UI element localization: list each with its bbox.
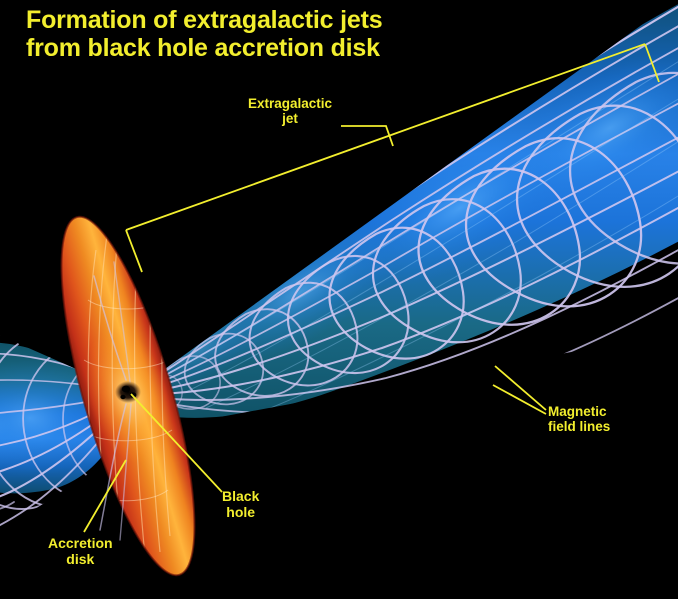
label-extragalactic-jet: Extragalactic jet: [248, 96, 332, 126]
title-line-2: from black hole accretion disk: [26, 34, 380, 62]
label-accretion-disk: Accretion disk: [48, 536, 113, 567]
title-line-1: Formation of extragalactic jets: [26, 6, 382, 34]
illustration-svg: [0, 0, 678, 599]
page-title: Formation of extragalactic jetsfrom blac…: [26, 6, 382, 62]
label-magnetic-field-lines: Magnetic field lines: [548, 404, 610, 434]
figure-canvas: Formation of extragalactic jetsfrom blac…: [0, 0, 678, 599]
label-black-hole: Black hole: [222, 489, 259, 520]
